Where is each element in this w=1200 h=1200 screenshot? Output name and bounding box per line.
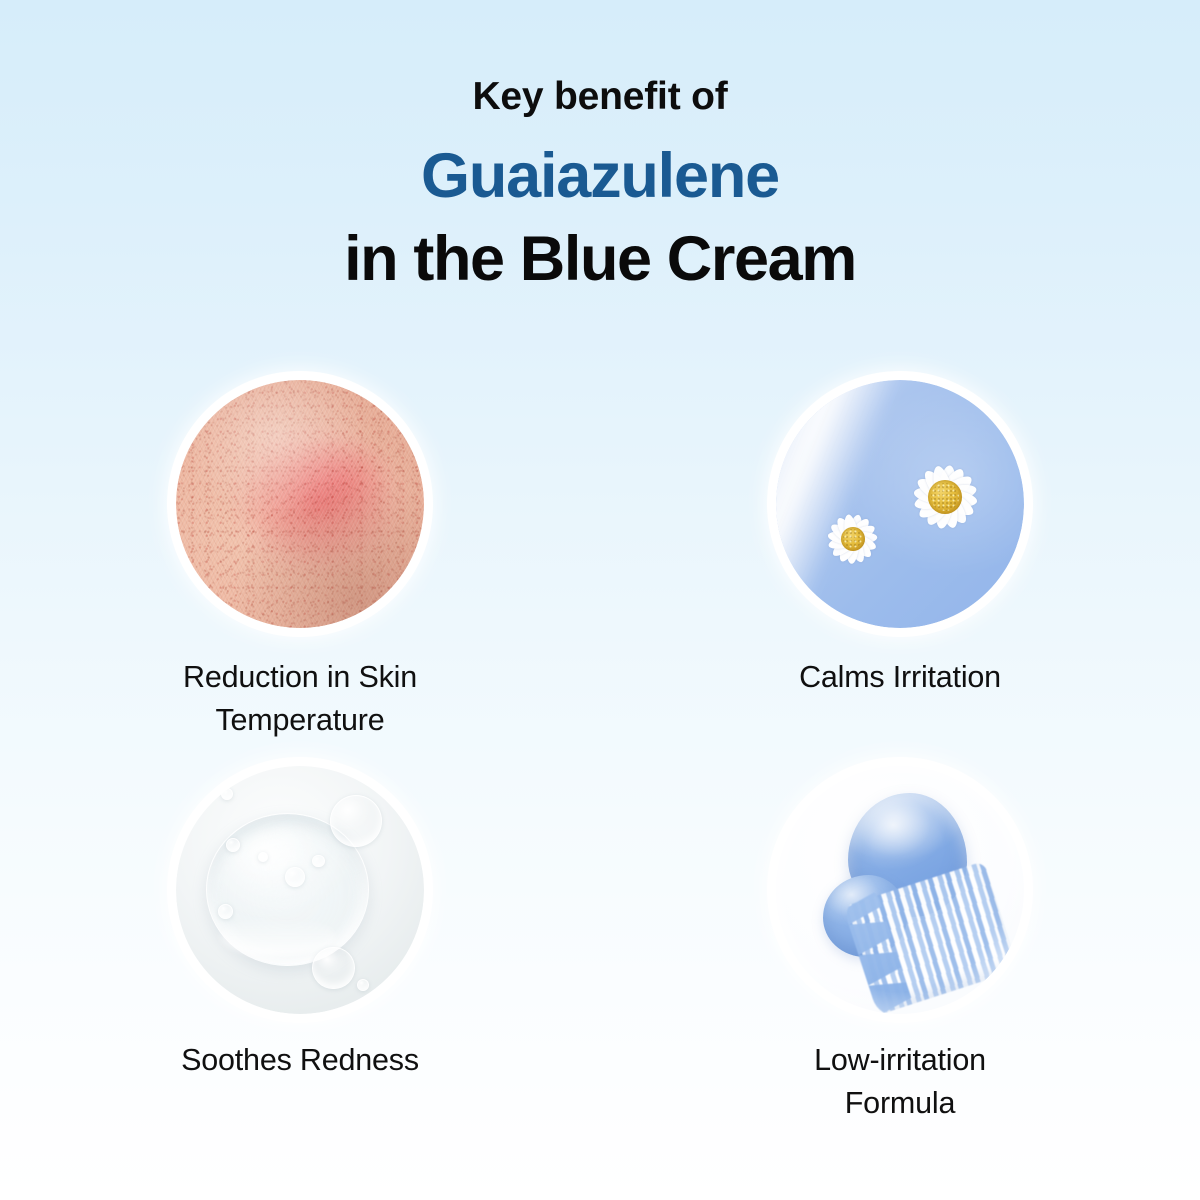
headline-ingredient-name: Guaiazulene <box>0 142 1200 211</box>
benefit-image-frame <box>776 380 1024 628</box>
chamomile-flower-large <box>890 442 1000 552</box>
benefit-image-frame <box>776 766 1024 1014</box>
promo-banner: Key benefit of Guaiazulene in the Blue C… <box>0 0 1200 1200</box>
benefit-caption: Calms Irritation <box>799 656 1001 699</box>
gel-bubble <box>258 852 268 862</box>
gel-bubble <box>330 795 382 847</box>
gel-bubble <box>285 867 305 887</box>
clear-gel-droplet-image <box>176 766 424 1014</box>
skin-shadow <box>176 380 424 628</box>
gel-bubble <box>221 788 233 800</box>
gel-bubble <box>357 979 369 991</box>
benefit-caption: Soothes Redness <box>181 1039 419 1082</box>
flower-core <box>841 527 865 551</box>
headline-block: Key benefit of Guaiazulene in the Blue C… <box>0 74 1200 295</box>
benefit-grid: Reduction in Skin Temperature <box>0 380 1200 1125</box>
flower-core <box>928 480 962 514</box>
benefit-caption: Low-irritation Formula <box>814 1039 986 1126</box>
gel-bubble <box>312 947 354 989</box>
benefit-row: Soothes Redness Low-irritation Formula <box>0 766 1200 1126</box>
benefit-item-soothes-redness: Soothes Redness <box>0 766 600 1126</box>
headline-product-line: in the Blue Cream <box>0 225 1200 294</box>
benefit-item-low-irritation-formula: Low-irritation Formula <box>600 766 1200 1126</box>
benefit-item-calms-irritation: Calms Irritation <box>600 380 1200 743</box>
headline-eyebrow: Key benefit of <box>0 74 1200 120</box>
benefit-image-frame <box>176 766 424 1014</box>
blue-cream-swatch-image <box>776 766 1024 1014</box>
benefit-image-frame <box>176 380 424 628</box>
chamomile-flower-small <box>811 497 895 581</box>
benefit-row: Reduction in Skin Temperature <box>0 380 1200 743</box>
benefit-item-reduction-in-skin-temperature: Reduction in Skin Temperature <box>0 380 600 743</box>
gel-bubble <box>312 855 324 867</box>
chamomile-flowers-on-blue-image <box>776 380 1024 628</box>
vignette-fade <box>776 766 1024 1014</box>
benefit-caption: Reduction in Skin Temperature <box>183 656 417 743</box>
irritated-red-skin-closeup-image <box>176 380 424 628</box>
